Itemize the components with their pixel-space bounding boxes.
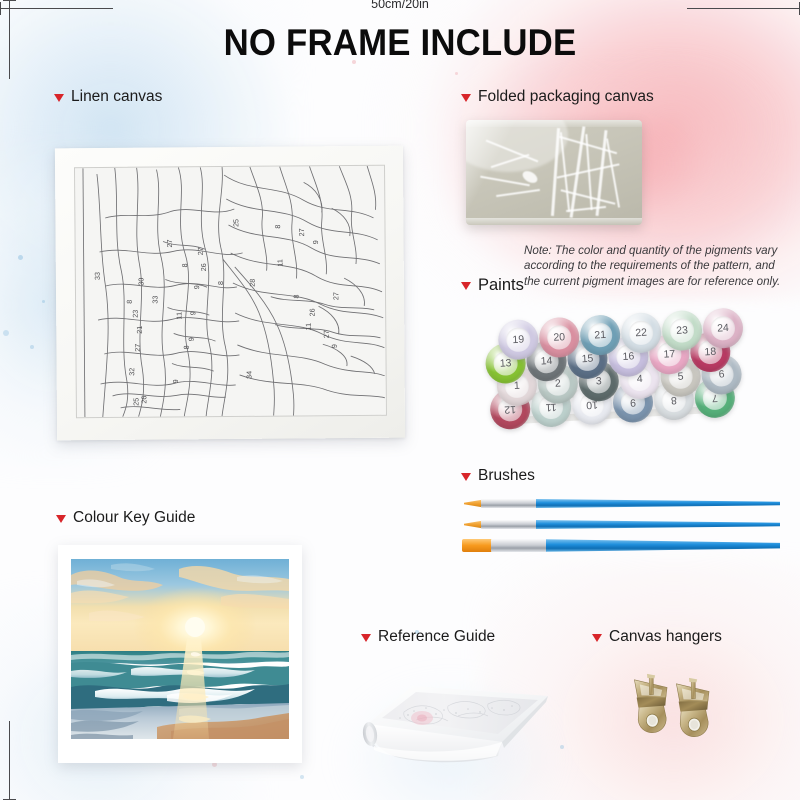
- brush-round-thin-2: [464, 520, 780, 529]
- svg-text:8: 8: [183, 345, 191, 349]
- section-label-text: Canvas hangers: [609, 628, 722, 646]
- paint-pot[interactable]: 20: [538, 316, 580, 358]
- svg-text:27: 27: [298, 228, 306, 236]
- dimension-height: 40cm/16in: [0, 16, 18, 238]
- paint-pot-body: 23: [661, 310, 703, 352]
- triangle-down-icon: [461, 282, 471, 290]
- svg-text:34: 34: [245, 371, 253, 379]
- svg-text:8: 8: [217, 281, 225, 285]
- svg-text:9: 9: [172, 379, 180, 383]
- svg-text:9: 9: [312, 240, 320, 244]
- plastic-bag: [466, 120, 642, 225]
- paint-pot[interactable]: 21: [579, 314, 621, 356]
- canvas-frame: 33 27 8 27 26 9 8 25 8 27 9 11 28 8: [55, 146, 405, 441]
- brush-handle: [536, 499, 780, 508]
- svg-text:8: 8: [293, 294, 301, 298]
- paint-pot-number: 19: [497, 319, 539, 361]
- paint-pot-number: 22: [620, 312, 662, 354]
- section-label-reference-guide: Reference Guide: [361, 628, 495, 646]
- page-title: NO FRAME INCLUDE: [24, 22, 776, 64]
- svg-text:8: 8: [126, 300, 134, 304]
- svg-text:11: 11: [276, 259, 284, 267]
- paint-speck: [30, 345, 34, 349]
- seascape-reference-art: [71, 559, 289, 739]
- brushes-product: [462, 495, 792, 565]
- section-label-folded-packaging: Folded packaging canvas: [461, 88, 654, 106]
- paint-pot-body: 19: [497, 319, 539, 361]
- paint-pot[interactable]: 22: [620, 312, 662, 354]
- section-label-text: Reference Guide: [378, 628, 495, 646]
- dimension-width-label: 50cm/20in: [0, 0, 800, 11]
- paint-pot[interactable]: 23: [661, 310, 703, 352]
- svg-text:9: 9: [188, 337, 196, 341]
- svg-text:26: 26: [140, 396, 148, 404]
- paint-pot-number: 21: [579, 314, 621, 356]
- paint-pot-body: 21: [579, 314, 621, 356]
- triangle-down-icon: [56, 515, 66, 523]
- svg-text:33: 33: [94, 272, 102, 280]
- triangle-down-icon: [54, 94, 64, 102]
- brush-handle: [546, 539, 780, 552]
- svg-text:32: 32: [128, 368, 136, 376]
- paint-pot-body: 24: [702, 307, 744, 349]
- colour-key-card: [58, 545, 302, 763]
- paint-speck: [300, 775, 304, 779]
- svg-text:26: 26: [200, 263, 208, 271]
- paint-speck: [455, 72, 458, 75]
- triangle-down-icon: [592, 634, 602, 642]
- svg-text:28: 28: [249, 279, 257, 287]
- dimension-width: 50cm/20in: [0, 0, 306, 16]
- section-label-canvas-hangers: Canvas hangers: [592, 628, 722, 646]
- hanger-pair: [625, 668, 735, 748]
- svg-text:11: 11: [305, 323, 313, 331]
- reference-guide-product: [352, 668, 552, 773]
- svg-text:23: 23: [132, 310, 140, 318]
- svg-text:9: 9: [189, 311, 197, 315]
- section-label-colour-key-guide: Colour Key Guide: [56, 509, 195, 527]
- svg-text:11: 11: [175, 312, 183, 320]
- brush-round-thin-1: [464, 499, 780, 508]
- svg-text:27: 27: [197, 247, 205, 255]
- svg-text:21: 21: [136, 326, 144, 334]
- section-label-text: Colour Key Guide: [73, 509, 195, 527]
- svg-text:9: 9: [331, 344, 339, 348]
- svg-text:8: 8: [181, 263, 189, 267]
- svg-text:27: 27: [332, 292, 340, 300]
- paint-speck: [42, 300, 45, 303]
- svg-text:30: 30: [137, 278, 145, 286]
- paint-speck: [18, 255, 23, 260]
- section-label-text: Folded packaging canvas: [478, 88, 654, 106]
- svg-text:25: 25: [132, 398, 140, 406]
- svg-text:9: 9: [193, 285, 201, 289]
- triangle-down-icon: [461, 473, 471, 481]
- brush-bristle: [462, 539, 492, 552]
- canvas-hangers-product: [625, 668, 735, 748]
- paint-pot-number: 23: [661, 310, 703, 352]
- paint-pot-number: 20: [538, 316, 580, 358]
- paints-note: Note: The color and quantity of the pigm…: [524, 243, 786, 289]
- brush-bristle: [464, 520, 482, 529]
- section-label-linen-canvas: Linen canvas: [54, 88, 162, 106]
- paint-pot[interactable]: 19: [497, 319, 539, 361]
- linen-canvas-product: 33 27 8 27 26 9 8 25 8 27 9 11 28 8: [56, 147, 404, 439]
- paint-speck: [560, 745, 564, 749]
- paints-product: 192021222324131415161718123456121110987: [474, 308, 774, 426]
- paint-pot[interactable]: 24: [702, 307, 744, 349]
- brush-bristle: [464, 499, 482, 508]
- section-label-brushes: Brushes: [461, 467, 535, 485]
- colour-key-guide-product: [58, 545, 302, 763]
- svg-text:27: 27: [166, 239, 174, 247]
- brush-ferrule: [481, 520, 537, 529]
- canvas-surface: 33 27 8 27 26 9 8 25 8 27 9 11 28 8: [74, 165, 387, 418]
- svg-text:25: 25: [232, 219, 240, 227]
- folded-packaging-canvas-product: [466, 120, 642, 225]
- brush-ferrule: [481, 499, 537, 508]
- paint-pot-body: 20: [538, 316, 580, 358]
- svg-text:27: 27: [134, 344, 142, 352]
- triangle-down-icon: [361, 634, 371, 642]
- paint-by-numbers-pattern: 33 27 8 27 26 9 8 25 8 27 9 11 28 8: [75, 166, 386, 417]
- paint-speck: [3, 330, 9, 336]
- brush-ferrule: [491, 539, 547, 552]
- paint-pot-body: 22: [620, 312, 662, 354]
- rolled-paper-sheet: [352, 668, 552, 773]
- paint-pot-number: 24: [702, 307, 744, 349]
- svg-text:27: 27: [323, 330, 331, 338]
- triangle-down-icon: [461, 94, 471, 102]
- section-label-text: Linen canvas: [71, 88, 162, 106]
- paint-pot-tray: 192021222324131415161718123456121110987: [483, 306, 760, 427]
- section-label-text: Brushes: [478, 467, 535, 485]
- svg-text:33: 33: [152, 296, 160, 304]
- section-label-text: Paints: [478, 276, 524, 295]
- brush-handle: [536, 520, 780, 529]
- svg-text:26: 26: [309, 308, 317, 316]
- section-label-paints: Paints: [461, 276, 524, 295]
- svg-text:8: 8: [274, 225, 282, 229]
- infographic-page: NO FRAME INCLUDE Linen canvas 50cm/20in …: [0, 0, 800, 800]
- brush-flat-wide: [462, 539, 780, 552]
